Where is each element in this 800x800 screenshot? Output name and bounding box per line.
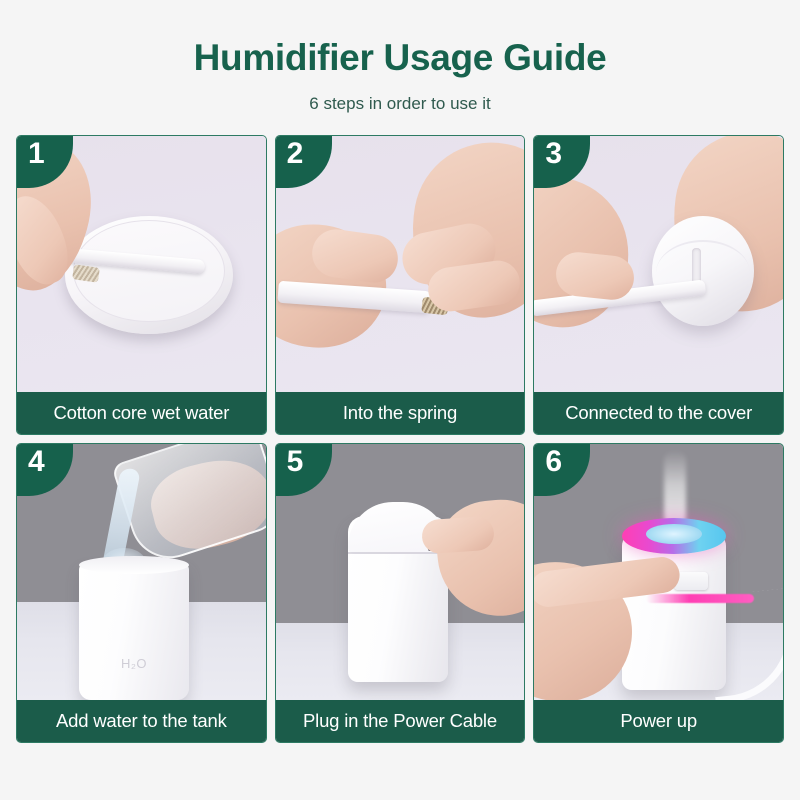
led-light-strip xyxy=(646,594,754,603)
infographic-page: Humidifier Usage Guide 6 steps in order … xyxy=(0,0,800,800)
steps-grid: 1 Cotton core wet water 2 Into the sprin… xyxy=(0,135,800,743)
led-nozzle xyxy=(646,524,702,544)
step-caption-2: Into the spring xyxy=(276,392,525,434)
water-tank-rim xyxy=(79,556,189,574)
index-finger xyxy=(421,515,495,554)
step-caption-5: Plug in the Power Cable xyxy=(276,700,525,742)
step-card-6[interactable]: 6 Power up xyxy=(533,443,784,743)
step-card-1[interactable]: 1 Cotton core wet water xyxy=(16,135,267,435)
step-caption-1: Cotton core wet water xyxy=(17,392,266,434)
page-subtitle: 6 steps in order to use it xyxy=(0,94,800,114)
tank-h2o-label: H₂O xyxy=(79,656,189,671)
step-photo-4: H₂O 4 xyxy=(17,444,266,700)
step-photo-6: 6 xyxy=(534,444,783,700)
step-photo-2: 2 xyxy=(276,136,525,392)
step-caption-6: Power up xyxy=(534,700,783,742)
page-title: Humidifier Usage Guide xyxy=(0,38,800,79)
step-caption-3: Connected to the cover xyxy=(534,392,783,434)
step-card-4[interactable]: H₂O 4 Add water to the tank xyxy=(16,443,267,743)
water-tank xyxy=(79,562,189,700)
step-photo-1: 1 xyxy=(17,136,266,392)
step-caption-4: Add water to the tank xyxy=(17,700,266,742)
step-card-2[interactable]: 2 Into the spring xyxy=(275,135,526,435)
step-photo-3: 3 xyxy=(534,136,783,392)
step-card-5[interactable]: 5 Plug in the Power Cable xyxy=(275,443,526,743)
header: Humidifier Usage Guide 6 steps in order … xyxy=(0,0,800,114)
spring-coil xyxy=(72,264,100,282)
mist-plume xyxy=(664,450,686,528)
step-card-3[interactable]: 3 Connected to the cover xyxy=(533,135,784,435)
power-cable xyxy=(705,587,783,699)
step-photo-5: 5 xyxy=(276,444,525,700)
